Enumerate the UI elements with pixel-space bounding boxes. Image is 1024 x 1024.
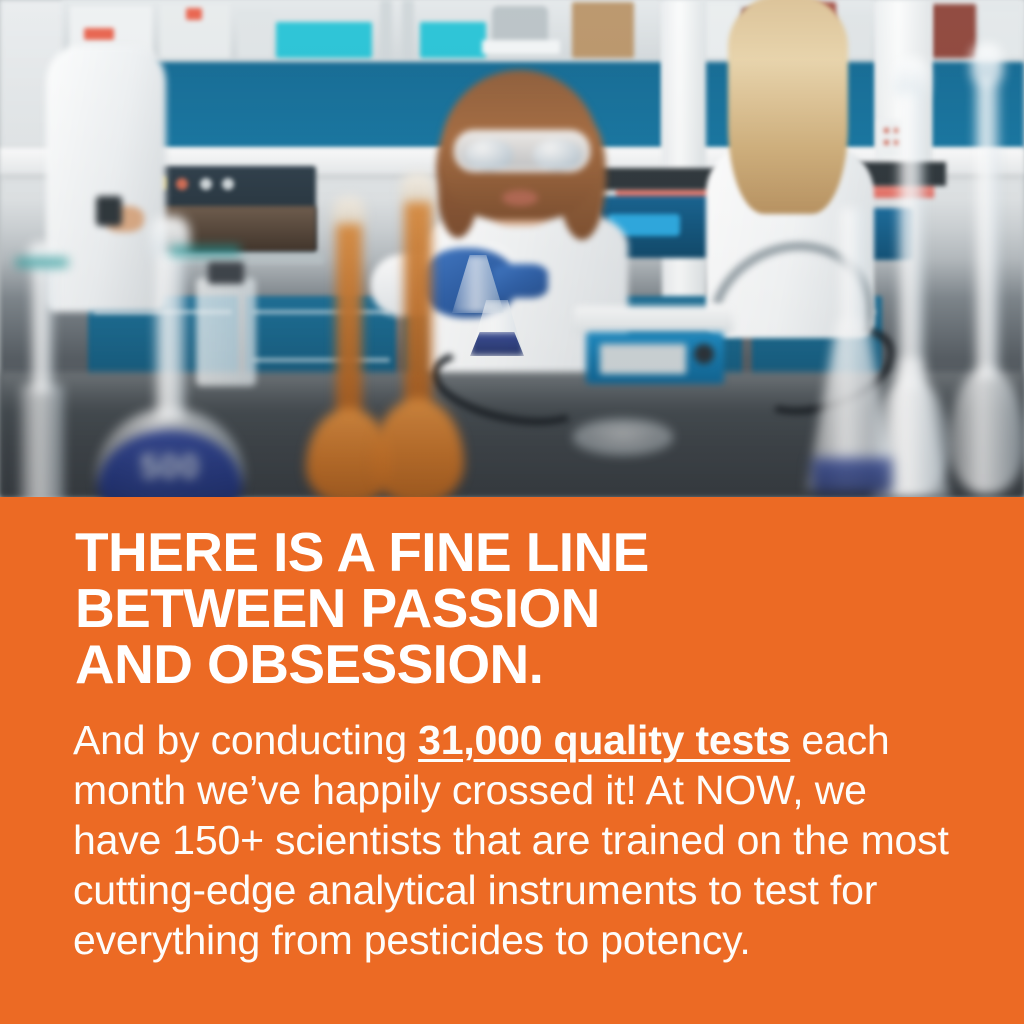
- shelf-label-red: [84, 28, 114, 40]
- volumetric-flask-right-b: [950, 44, 1024, 497]
- cylinder-tape-marker: [16, 258, 68, 267]
- shelf-divider: [380, 0, 392, 60]
- mouth: [502, 190, 538, 206]
- glove-fingers: [492, 264, 548, 298]
- instrument-knob: [222, 178, 234, 190]
- petri-dish: [574, 420, 672, 454]
- instrument-indicator: [176, 178, 188, 190]
- page-title: THERE IS A FINE LINE BETWEEN PASSION AND…: [75, 524, 955, 692]
- balance-knob: [694, 344, 714, 364]
- social-poster: 500 THERE IS A FINE LINE BETWEEN PASSION…: [0, 0, 1024, 1024]
- shelf-cardboard-box: [572, 2, 634, 58]
- shelf-tray: [482, 40, 560, 54]
- orange-text-panel: THERE IS A FINE LINE BETWEEN PASSION AND…: [0, 497, 1024, 1024]
- goggle-lens-left: [465, 139, 513, 171]
- hair: [728, 0, 848, 214]
- flask-volume-label: 500: [140, 448, 200, 487]
- balance-display: [600, 344, 686, 374]
- goggle-lens-right: [533, 139, 581, 171]
- graduated-cylinder-left: [16, 242, 68, 497]
- highlight-quality-tests: 31,000 quality tests: [418, 717, 790, 763]
- erlenmeyer-flask-right: [806, 208, 898, 497]
- balance-platform: [574, 306, 734, 334]
- shelf-item-cyan: [276, 22, 372, 58]
- body-paragraph: And by conducting 31,000 quality tests e…: [73, 715, 953, 965]
- shelf-label-red: [186, 8, 202, 20]
- amber-volumetric-flask-b: [372, 172, 464, 497]
- instrument-knob: [200, 178, 212, 190]
- shelf-box: [238, 10, 272, 58]
- shelf-divider: [402, 0, 414, 60]
- bench-tape-marker: [170, 246, 240, 256]
- safety-goggles: [454, 130, 590, 172]
- shelf-item-cyan: [420, 22, 486, 58]
- bottle-cap: [208, 262, 244, 284]
- body-text-before: And by conducting: [73, 717, 418, 763]
- reagent-bottle: [196, 278, 256, 386]
- lab-photo: 500: [0, 0, 1024, 497]
